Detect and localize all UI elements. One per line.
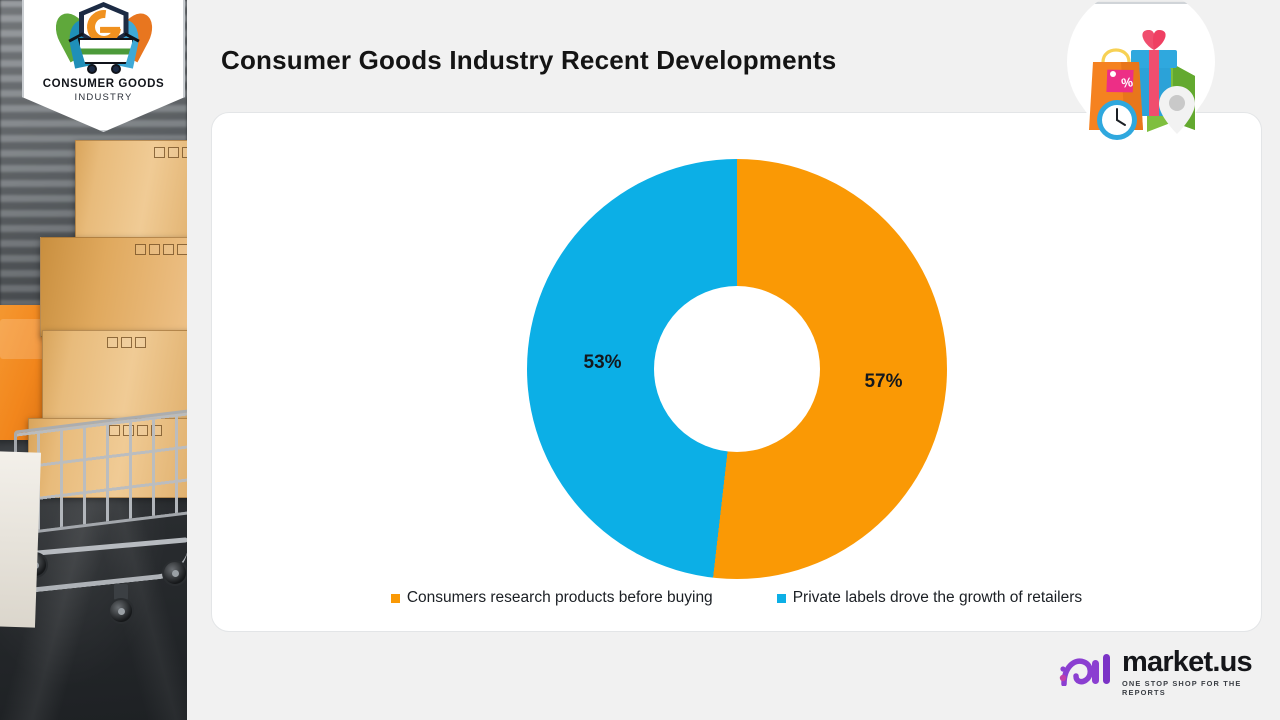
legend-swatch-orange-icon bbox=[391, 594, 400, 603]
page-title: Consumer Goods Industry Recent Developme… bbox=[221, 45, 836, 76]
market-us-brand[interactable]: market.us ONE STOP SHOP FOR THE REPORTS bbox=[1058, 648, 1280, 697]
legend-label: Private labels drove the growth of retai… bbox=[793, 589, 1082, 607]
cardboard-box bbox=[40, 237, 187, 337]
box-symbols bbox=[107, 337, 146, 348]
brand-name: market.us bbox=[1122, 648, 1280, 677]
logo-subtitle: INDUSTRY bbox=[75, 92, 133, 103]
brand-tagline: ONE STOP SHOP FOR THE REPORTS bbox=[1122, 679, 1280, 697]
slice-label-consumers-research: 57% bbox=[864, 371, 902, 393]
legend-label: Consumers research products before buyin… bbox=[407, 589, 713, 607]
cart-wheel bbox=[108, 598, 134, 624]
shopping-pin-badge-icon: % bbox=[1065, 2, 1217, 192]
market-us-logomark-icon bbox=[1058, 648, 1114, 686]
shopping-cart-logo-icon bbox=[56, 4, 152, 70]
legend-item-consumers-research[interactable]: Consumers research products before buyin… bbox=[391, 589, 713, 607]
pin-badge-illustration: % bbox=[1065, 2, 1217, 192]
legend-item-private-labels[interactable]: Private labels drove the growth of retai… bbox=[777, 589, 1082, 607]
slice-label-private-labels: 53% bbox=[584, 352, 622, 374]
white-paper-sheet bbox=[0, 451, 41, 627]
donut-center-hole bbox=[654, 286, 820, 452]
box-symbols bbox=[135, 244, 187, 255]
chart-legend: Consumers research products before buyin… bbox=[212, 589, 1261, 607]
cart-wheel bbox=[162, 560, 187, 586]
legend-swatch-blue-icon bbox=[777, 594, 786, 603]
box-symbols bbox=[154, 147, 187, 158]
slide-canvas: CONSUMER GOODS INDUSTRY Consumer Goods I… bbox=[0, 0, 1280, 720]
logo-title: CONSUMER GOODS bbox=[43, 78, 165, 90]
donut-chart: 53% 57% bbox=[527, 159, 947, 579]
